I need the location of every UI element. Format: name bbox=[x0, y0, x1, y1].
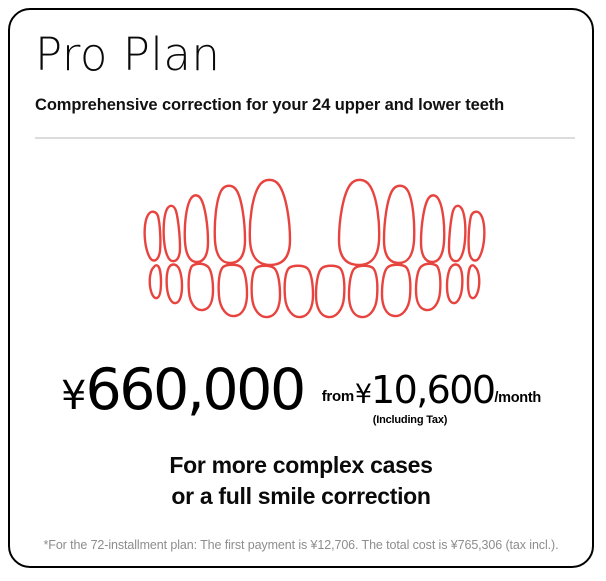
monthly-price: from ¥ 10,600 /month bbox=[322, 371, 541, 409]
yen-symbol: ¥ bbox=[61, 376, 85, 416]
footnote: *For the 72-installment plan: The first … bbox=[10, 538, 592, 552]
page-title: Pro Plan bbox=[35, 32, 220, 77]
teeth-arches-illustration bbox=[132, 178, 497, 330]
tagline: For more complex cases or a full smile c… bbox=[10, 450, 592, 511]
tagline-line-2: or a full smile correction bbox=[10, 481, 592, 512]
tax-note: (Including Tax) bbox=[10, 414, 592, 426]
monthly-price-amount: 10,600 bbox=[371, 371, 494, 409]
tagline-line-1: For more complex cases bbox=[10, 450, 592, 481]
header-divider bbox=[35, 137, 575, 139]
total-price-amount: 660,000 bbox=[86, 362, 304, 419]
total-price: ¥ 660,000 bbox=[61, 362, 304, 419]
monthly-yen-symbol: ¥ bbox=[355, 381, 371, 408]
pricing-card: Pro Plan Comprehensive correction for yo… bbox=[8, 8, 594, 568]
from-label: from bbox=[322, 389, 354, 404]
per-month-label: /month bbox=[494, 391, 541, 406]
plan-subtitle: Comprehensive correction for your 24 upp… bbox=[35, 96, 504, 115]
